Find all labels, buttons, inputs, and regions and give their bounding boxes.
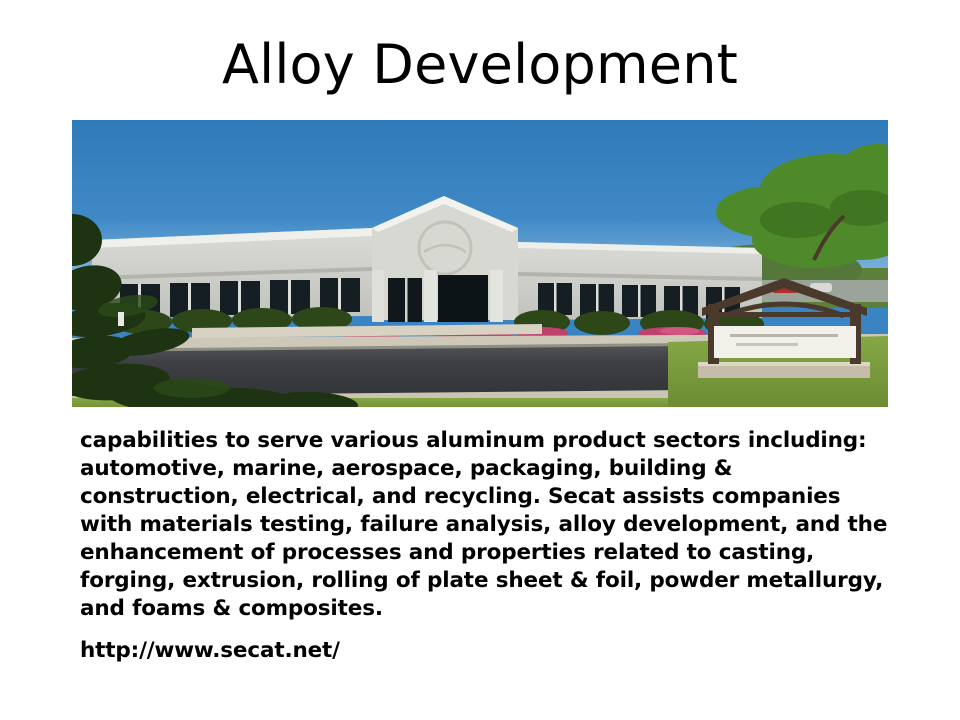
secat-website-url[interactable]: http://www.secat.net/ [80,637,892,665]
body-paragraph: capabilities to serve various aluminum p… [80,427,892,623]
presentation-slide: Alloy Development [0,0,960,720]
page-title: Alloy Development [0,34,960,96]
building-photo-graphic [72,120,888,407]
secat-building-photo [72,120,888,407]
body-text-block: capabilities to serve various aluminum p… [80,427,892,665]
